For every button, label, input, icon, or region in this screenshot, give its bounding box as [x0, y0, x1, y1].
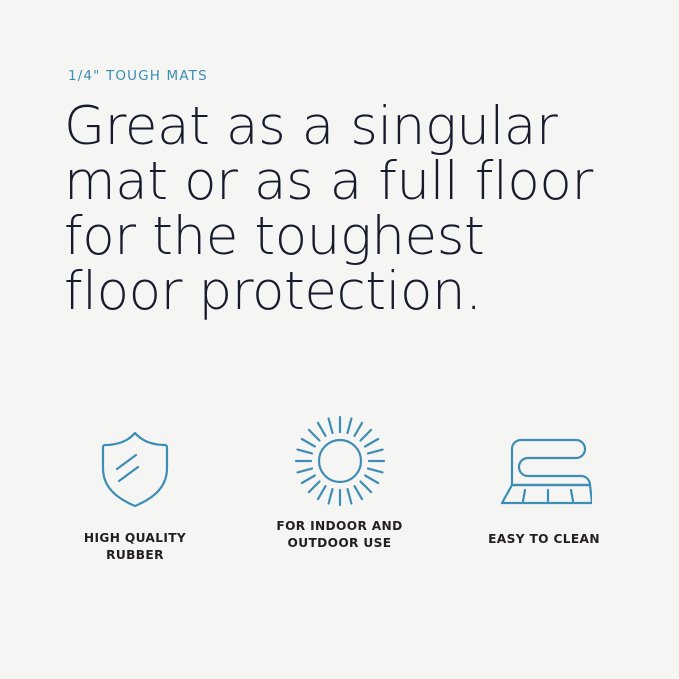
headline-line-1: Great as a singular: [64, 99, 534, 154]
headline-line-2: mat or as a full floor: [64, 154, 534, 209]
eyebrow-label: 1/4" TOUGH MATS: [68, 68, 208, 84]
sun-icon: [292, 408, 388, 513]
page-title: Great as a singular mat or as a full flo…: [64, 99, 534, 319]
shield-icon: [98, 408, 172, 521]
feature-caption: FOR INDOOR AND OUTDOOR USE: [276, 518, 402, 551]
brush-icon: [496, 408, 592, 523]
feature-list: HIGH QUALITY RUBBER: [40, 408, 639, 563]
headline-line-3: for the toughest: [64, 209, 534, 264]
feature-item-easy-to-clean: EASY TO CLEAN: [449, 408, 639, 548]
feature-item-high-quality-rubber: HIGH QUALITY RUBBER: [40, 408, 230, 563]
promo-banner: 1/4" TOUGH MATS Great as a singular mat …: [0, 0, 679, 679]
feature-item-indoor-outdoor-use: FOR INDOOR AND OUTDOOR USE: [245, 408, 435, 551]
feature-caption: EASY TO CLEAN: [488, 531, 600, 548]
headline-line-4: floor protection.: [64, 264, 534, 319]
feature-caption: HIGH QUALITY RUBBER: [84, 530, 186, 563]
